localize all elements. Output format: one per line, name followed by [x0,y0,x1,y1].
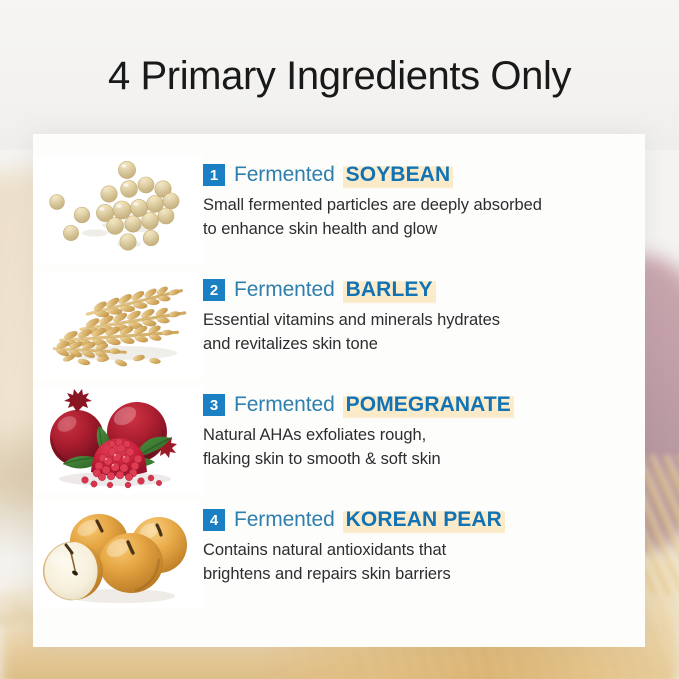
ingredient-heading: 4 Fermented KOREAN PEAR [203,507,505,533]
ingredient-prefix: Fermented [234,393,335,417]
pomegranate-photo [33,386,203,494]
list-item: 2 Fermented BARLEY Essential vitamins an… [33,271,645,386]
ingredient-heading: 3 Fermented POMEGRANATE [203,392,514,418]
ingredient-number-badge: 1 [203,164,225,186]
ingredient-prefix: Fermented [234,163,335,187]
ingredient-number-badge: 2 [203,279,225,301]
korean-pear-photo [33,501,203,609]
ingredient-description: Small fermented particles are deeply abs… [203,193,542,241]
ingredient-copy: 1 Fermented SOYBEAN Small fermented part… [203,156,542,241]
ingredient-copy: 4 Fermented KOREAN PEAR Contains natural… [203,501,505,586]
ingredient-number-badge: 4 [203,509,225,531]
ingredient-name: SOYBEAN [343,162,454,189]
ingredient-name: POMEGRANATE [343,392,514,419]
page-title: 4 Primary Ingredients Only [0,52,679,100]
ingredient-heading: 1 Fermented SOYBEAN [203,162,542,188]
list-item: 3 Fermented POMEGRANATE Natural AHAs exf… [33,386,645,501]
ingredients-infographic: 4 Primary Ingredients Only [0,0,679,679]
ingredient-prefix: Fermented [234,508,335,532]
ingredient-description: Contains natural antioxidants that brigh… [203,538,505,586]
list-item: 1 Fermented SOYBEAN Small fermented part… [33,156,645,271]
ingredient-name: BARLEY [343,277,436,304]
barley-photo [33,271,203,379]
ingredient-list: 1 Fermented SOYBEAN Small fermented part… [33,156,645,616]
ingredient-name: KOREAN PEAR [343,507,505,534]
ingredient-heading: 2 Fermented BARLEY [203,277,500,303]
ingredient-copy: 3 Fermented POMEGRANATE Natural AHAs exf… [203,386,514,471]
ingredient-copy: 2 Fermented BARLEY Essential vitamins an… [203,271,500,356]
list-item: 4 Fermented KOREAN PEAR Contains natural… [33,501,645,616]
ingredient-number-badge: 3 [203,394,225,416]
soybean-photo [33,156,203,264]
ingredient-description: Natural AHAs exfoliates rough, flaking s… [203,423,514,471]
ingredient-prefix: Fermented [234,278,335,302]
ingredient-description: Essential vitamins and minerals hydrates… [203,308,500,356]
